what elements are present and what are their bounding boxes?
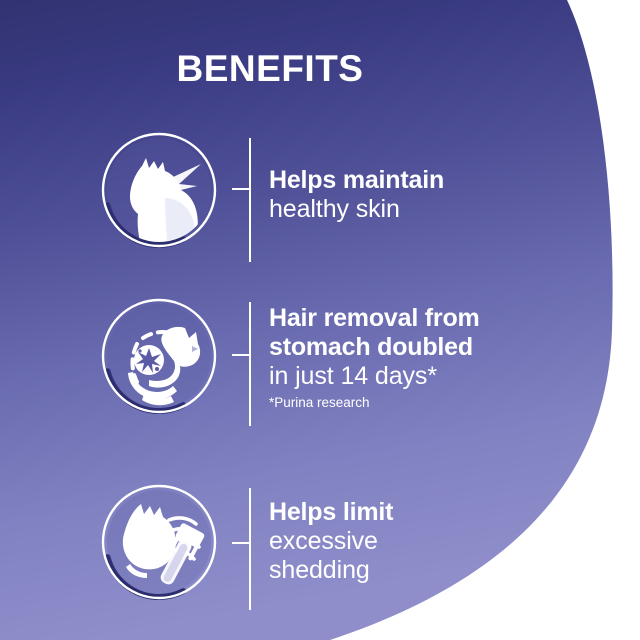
benefit-headline-line-2: stomach doubled: [269, 333, 599, 362]
connector-vertical-line: [249, 138, 251, 262]
benefit-text: Helps maintain healthy skin: [269, 166, 599, 224]
benefit-subline-line-2: shedding: [269, 556, 599, 585]
connector-tick: [232, 542, 250, 544]
page-title: BENEFITS: [0, 50, 540, 89]
benefit-connector-rule: [200, 480, 260, 630]
connector-vertical-line: [249, 302, 251, 426]
benefit-subline: healthy skin: [269, 195, 599, 224]
benefit-headline: Helps limit: [269, 498, 599, 527]
benefit-footnote: *Purina research: [269, 394, 599, 412]
benefit-subline-line-1: excessive: [269, 527, 599, 556]
benefit-connector-rule: [200, 128, 260, 278]
benefit-headline-line-1: Hair removal from: [269, 304, 599, 333]
benefit-item: Helps limit excessive shedding: [0, 480, 640, 630]
connector-vertical-line: [249, 488, 251, 610]
connector-tick: [232, 354, 250, 356]
connector-tick: [232, 188, 250, 190]
benefit-text: Hair removal from stomach doubled in jus…: [269, 304, 599, 412]
benefit-item: Helps maintain healthy skin: [0, 128, 640, 278]
benefit-subline: in just 14 days*: [269, 362, 599, 391]
benefit-text: Helps limit excessive shedding: [269, 498, 599, 585]
benefits-poster: BENEFITS: [0, 0, 640, 640]
benefit-headline: Helps maintain: [269, 166, 599, 195]
benefit-connector-rule: [200, 294, 260, 444]
benefit-item: Hair removal from stomach doubled in jus…: [0, 294, 640, 444]
